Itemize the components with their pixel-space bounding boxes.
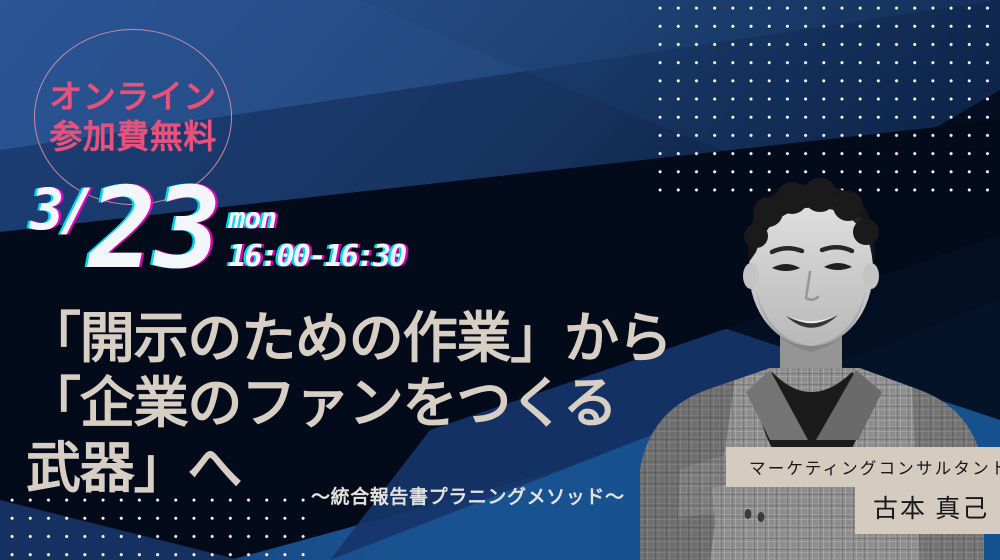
- badge-line-free: 参加費無料: [49, 118, 217, 156]
- event-date-details: mon 16:00-16:30: [229, 205, 406, 278]
- badge-line-online: オンライン: [49, 78, 217, 116]
- main-title: 「開示のための作業」から 「企業のファンをつくる 武器」へ: [26, 306, 672, 501]
- event-time-range: 16:00-16:30: [229, 242, 406, 272]
- event-month: 3/: [30, 186, 91, 278]
- subtitle: 〜統合報告書プラニングメソッド〜: [311, 482, 625, 509]
- event-day: 23: [89, 186, 220, 278]
- speaker-role-plate: マーケティングコンサルタント: [726, 447, 1000, 487]
- speaker-name-plate: 古本 真己: [855, 482, 1000, 534]
- title-line-2: 「企業のファンをつくる: [26, 371, 672, 436]
- seminar-banner: オンライン 参加費無料 3/ 23 mon 16:00-16:30 「開示のため…: [0, 0, 1000, 560]
- title-line-1: 「開示のための作業」から: [26, 306, 672, 371]
- event-weekday: mon: [229, 205, 406, 233]
- event-date-block: 3/ 23 mon 16:00-16:30: [30, 186, 405, 278]
